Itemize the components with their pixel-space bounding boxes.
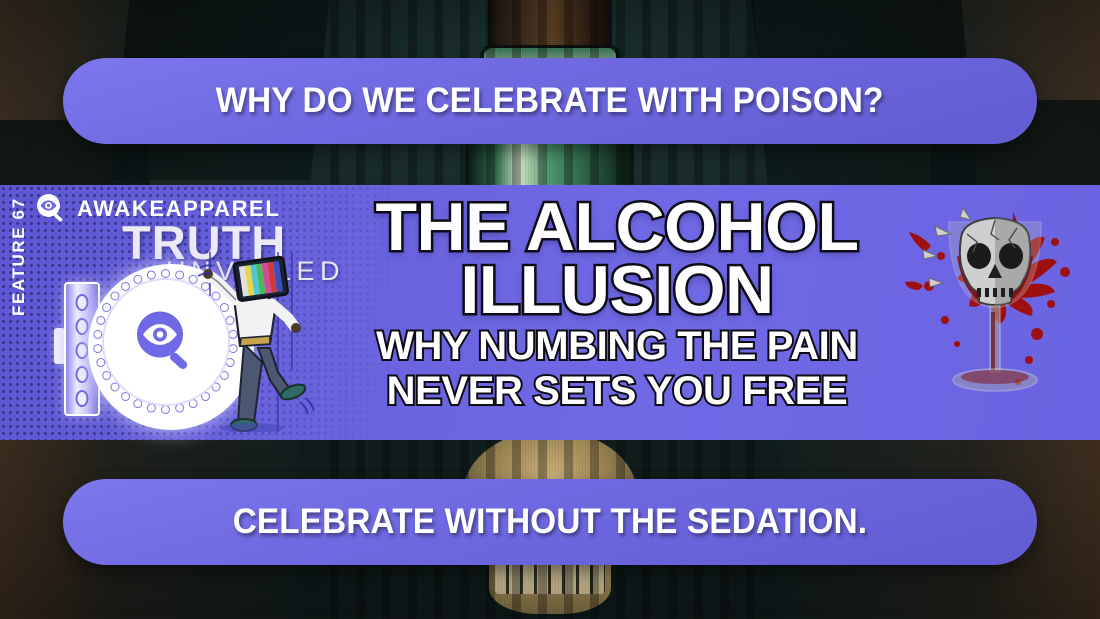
tv-head-puppet-graphic xyxy=(196,252,324,432)
headline-block: THE ALCOHOL ILLUSION WHY NUMBING THE PAI… xyxy=(352,196,882,411)
top-banner: WHY DO WE CELEBRATE WITH POISON? xyxy=(63,58,1037,144)
eye-in-magnifier-icon xyxy=(34,192,68,226)
skull-wine-glass-graphic xyxy=(905,194,1085,426)
bottom-banner: CELEBRATE WITHOUT THE SEDATION. xyxy=(63,479,1037,565)
eye-in-magnifier-icon xyxy=(130,306,200,376)
headline-sub-line-1: WHY NUMBING THE PAIN xyxy=(352,327,882,366)
headline-line-2: ILLUSION xyxy=(352,259,882,322)
headline-sub-line-2: NEVER SETS YOU FREE xyxy=(352,372,882,411)
feature-number-label: FEATURE 67 xyxy=(2,76,36,316)
poster-canvas: WHY DO WE CELEBRATE WITH POISON? FEATURE… xyxy=(0,0,1100,619)
top-banner-text: WHY DO WE CELEBRATE WITH POISON? xyxy=(216,81,884,121)
bottom-banner-text: CELEBRATE WITHOUT THE SEDATION. xyxy=(233,502,868,542)
headline-line-1: THE ALCOHOL xyxy=(352,196,882,259)
